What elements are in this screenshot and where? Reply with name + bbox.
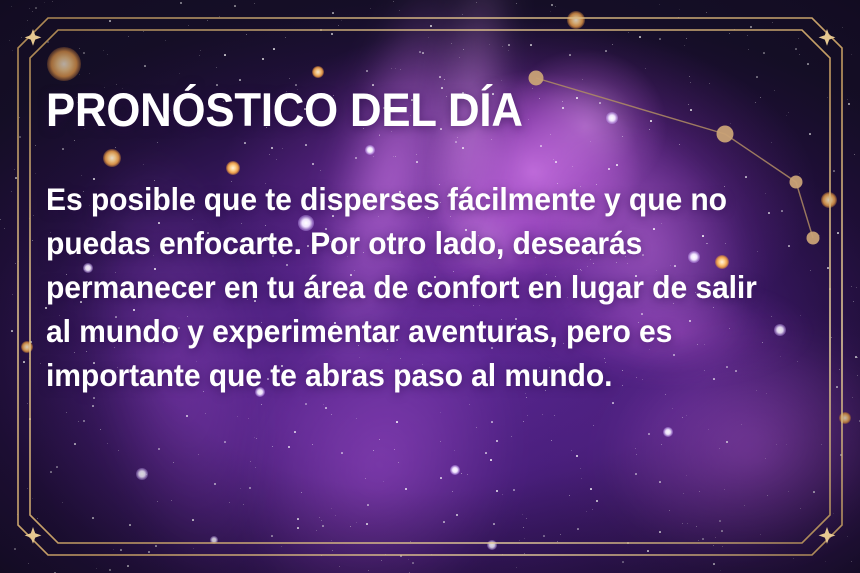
large-stars	[0, 0, 2, 2]
sparkle-icon	[25, 527, 42, 544]
body-text-line: importante que te abras paso al mundo.	[46, 353, 800, 397]
sparkle-icon	[25, 29, 42, 46]
text-content: PRONÓSTICO DEL DÍA Es posible que te dis…	[46, 86, 836, 397]
body-text-line: al mundo y experimentar aventuras, pero …	[46, 309, 800, 353]
sparkle-icon	[819, 527, 836, 544]
body-text-line: Es posible que te disperses fácilmente y…	[46, 177, 800, 221]
glow-star	[663, 427, 673, 437]
horoscope-card: PRONÓSTICO DEL DÍA Es posible que te dis…	[0, 0, 860, 573]
horoscope-body-text: Es posible que te disperses fácilmente y…	[46, 133, 800, 397]
amber-star	[312, 66, 324, 78]
glow-star	[487, 540, 497, 550]
body-text-line: permanecer en tu área de confort en luga…	[46, 265, 800, 309]
amber-star	[21, 341, 33, 353]
glow-star	[136, 468, 148, 480]
amber-star	[47, 47, 81, 81]
constellation-node	[529, 71, 544, 86]
amber-star	[567, 11, 585, 29]
medium-stars	[0, 0, 2, 2]
sparkle-icon	[819, 29, 836, 46]
small-stars	[0, 0, 1, 1]
glow-star	[210, 536, 218, 544]
body-text-line: puedas enfocarte. Por otro lado, deseará…	[46, 221, 800, 265]
glow-star	[450, 465, 460, 475]
amber-star	[839, 412, 851, 424]
page-title: PRONÓSTICO DEL DÍA	[46, 86, 781, 133]
